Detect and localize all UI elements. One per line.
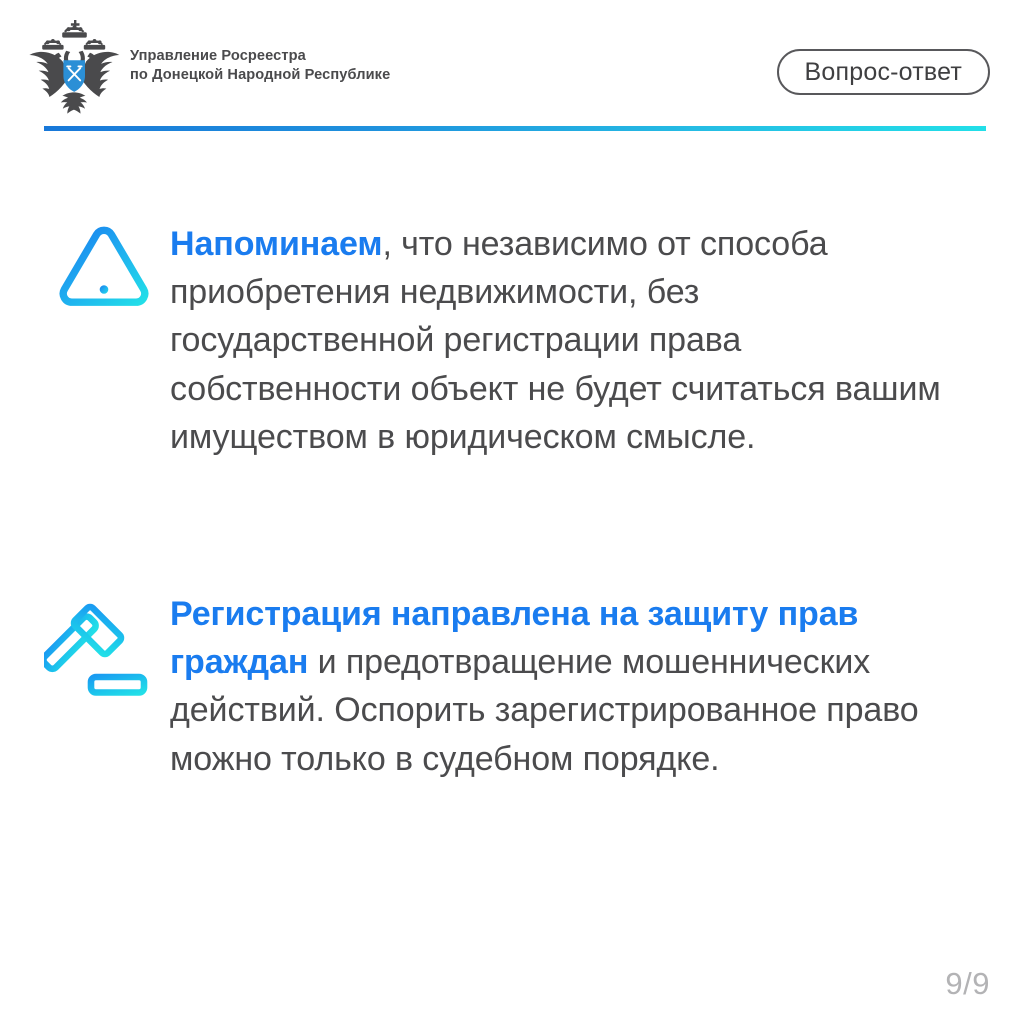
organization-name-line2: по Донецкой Народной Республике xyxy=(130,66,390,85)
brand-lockup: Управление Росреестра по Донецкой Народн… xyxy=(22,16,390,116)
gavel-icon xyxy=(44,588,164,708)
warning-triangle-icon xyxy=(44,218,164,338)
warning-paragraph: Напоминаем, что независимо от способа пр… xyxy=(170,218,970,461)
organization-name-line1: Управление Росреестра xyxy=(130,48,306,64)
protection-paragraph: Регистрация направлена на защиту прав гр… xyxy=(170,588,970,783)
section-badge: Вопрос-ответ xyxy=(777,49,990,95)
page-indicator: 9/9 xyxy=(945,966,990,1002)
content-block-protection: Регистрация направлена на защиту прав гр… xyxy=(44,588,1004,783)
rosreestr-eagle-emblem xyxy=(22,16,126,116)
header-divider xyxy=(44,126,986,131)
page-header: Управление Росреестра по Донецкой Народн… xyxy=(0,0,1024,128)
organization-name: Управление Росреестра по Донецкой Народн… xyxy=(130,47,390,85)
warning-highlight: Напоминаем xyxy=(170,225,382,263)
content-block-warning: Напоминаем, что независимо от способа пр… xyxy=(44,218,1004,461)
section-badge-label: Вопрос-ответ xyxy=(805,58,962,87)
